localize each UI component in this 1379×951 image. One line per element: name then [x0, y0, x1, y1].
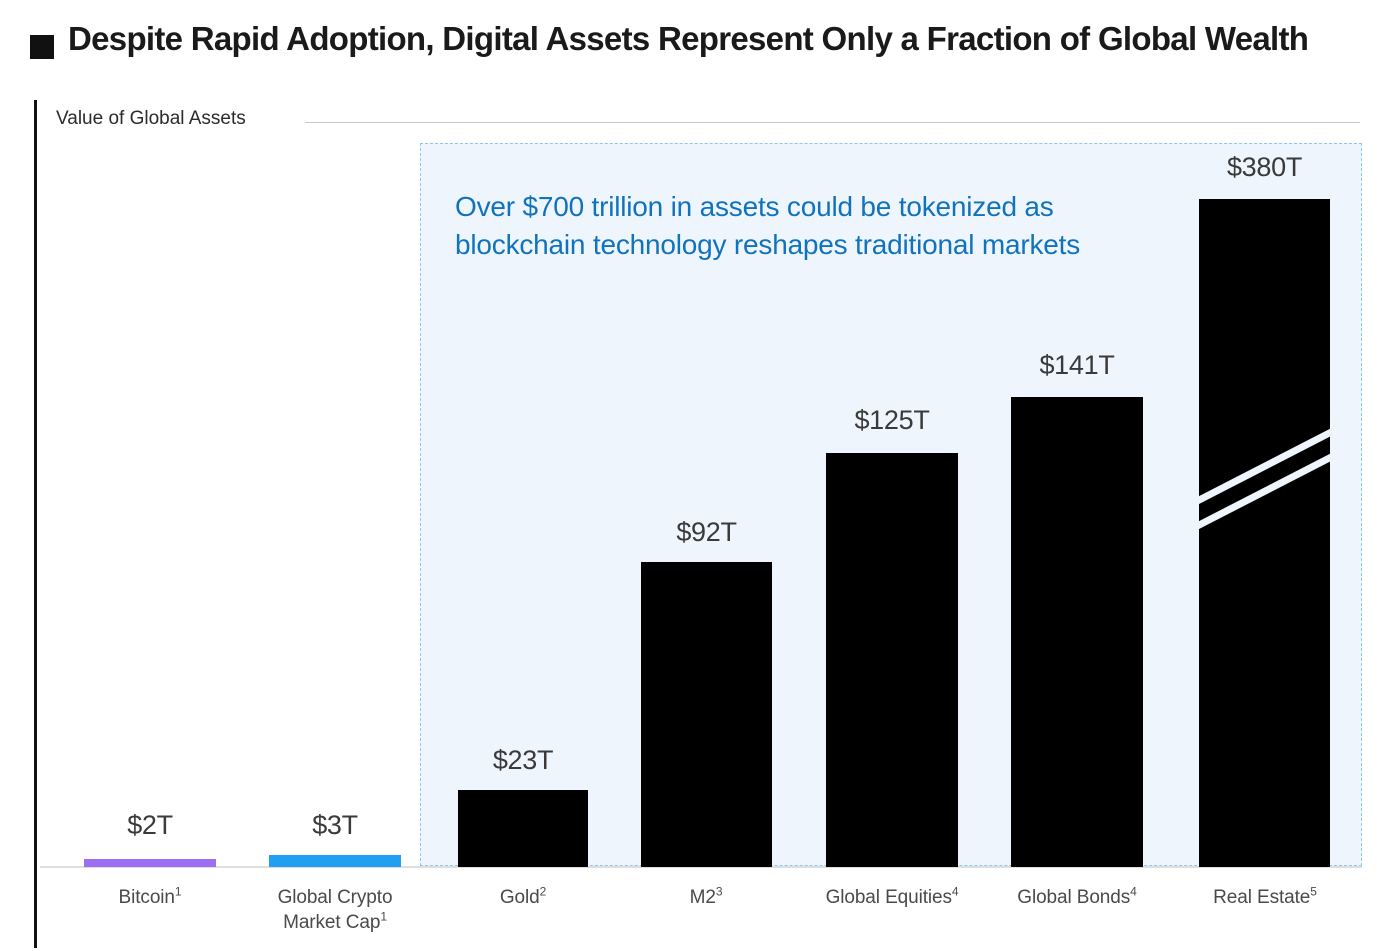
footnote-marker-global-equities: 4: [952, 885, 959, 899]
bar-real-estate[interactable]: [1199, 199, 1330, 867]
category-label-global-crypto-line1: Global Crypto: [278, 887, 393, 908]
category-label-global-bonds-text: Global Bonds: [1017, 887, 1130, 908]
bar-value-global-equities: $125T: [826, 405, 958, 436]
bar-global-bonds[interactable]: [1011, 397, 1143, 867]
footnote-marker-gold: 2: [540, 885, 547, 899]
category-label-global-equities: Global Equities4: [802, 885, 982, 910]
bar-m2[interactable]: [641, 562, 772, 867]
footnote-marker-m2: 3: [716, 885, 723, 899]
bar-value-global-crypto-market-cap: $3T: [269, 810, 401, 841]
bar-value-bitcoin: $2T: [84, 810, 216, 841]
footnote-marker-global-bonds: 4: [1130, 885, 1137, 899]
footnote-marker-bitcoin: 1: [175, 885, 182, 899]
footnote-marker-global-crypto: 1: [380, 910, 387, 924]
category-label-real-estate: Real Estate5: [1175, 885, 1355, 910]
category-label-bitcoin: Bitcoin1: [60, 885, 240, 910]
category-label-gold-text: Gold: [500, 887, 540, 908]
category-label-global-crypto-market-cap: Global CryptoMarket Cap1: [245, 885, 425, 935]
category-label-real-estate-text: Real Estate: [1213, 887, 1310, 908]
category-label-m2: M23: [616, 885, 796, 910]
bar-value-m2: $92T: [641, 517, 772, 548]
bar-value-gold: $23T: [458, 745, 588, 776]
bar-value-real-estate: $380T: [1199, 152, 1330, 183]
category-label-global-equities-text: Global Equities: [826, 887, 952, 908]
category-label-m2-text: M2: [690, 887, 716, 908]
bar-gold[interactable]: [458, 790, 588, 867]
footnote-marker-real-estate: 5: [1310, 885, 1317, 899]
bar-global-equities[interactable]: [826, 453, 958, 867]
bar-chart-plot: $2T Bitcoin1 $3T Global CryptoMarket Cap…: [0, 0, 1379, 951]
bar-global-crypto-market-cap[interactable]: [269, 855, 401, 867]
category-label-global-bonds: Global Bonds4: [987, 885, 1167, 910]
category-label-bitcoin-text: Bitcoin: [119, 887, 175, 908]
bar-value-global-bonds: $141T: [1011, 350, 1143, 381]
category-label-global-crypto-line2: Market Cap: [283, 912, 380, 933]
bar-bitcoin[interactable]: [84, 859, 216, 867]
category-label-gold: Gold2: [433, 885, 613, 910]
